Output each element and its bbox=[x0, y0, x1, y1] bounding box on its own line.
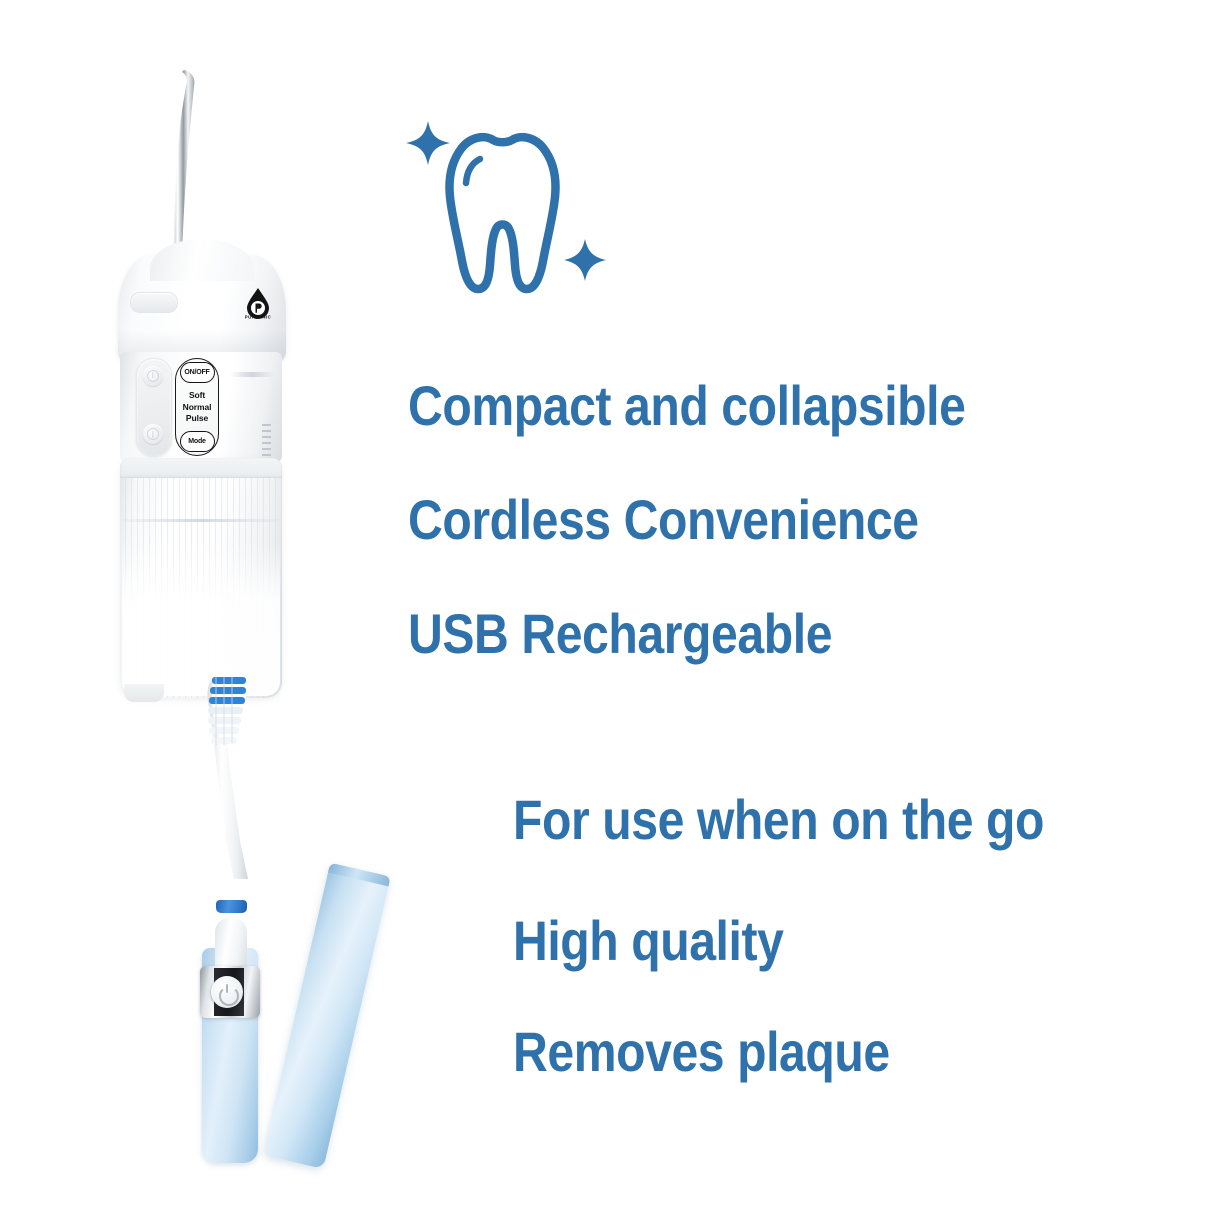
mode-pulse-label: Pulse bbox=[186, 413, 208, 424]
sparkle-icon bbox=[406, 121, 450, 165]
tank-fill-line bbox=[122, 519, 280, 522]
feature-high-quality: High quality bbox=[513, 913, 783, 969]
mode-normal-label: Normal bbox=[183, 402, 212, 413]
mode-list: Soft Normal Pulse bbox=[183, 390, 212, 424]
handle-power-button[interactable] bbox=[211, 976, 243, 1008]
toothbrush-handle bbox=[196, 900, 266, 1165]
cap-release-button[interactable] bbox=[130, 292, 178, 313]
power-icon bbox=[147, 370, 159, 382]
brush-head-collar bbox=[216, 900, 247, 913]
mode-label: Mode bbox=[180, 431, 215, 452]
feature-removes-plaque: Removes plaque bbox=[513, 1024, 890, 1080]
sparkle-icon bbox=[564, 239, 606, 281]
travel-cap bbox=[263, 863, 391, 1169]
tooth-icon bbox=[400, 105, 620, 295]
pursonic-brand-logo-icon: PURSONIC bbox=[238, 286, 278, 320]
mode-rubber-button[interactable] bbox=[143, 424, 163, 444]
feature-for-use-when-on-the-go: For use when on the go bbox=[513, 792, 1044, 848]
mode-soft-label: Soft bbox=[189, 390, 205, 401]
onoff-label: ON/OFF bbox=[180, 362, 215, 383]
body-seam bbox=[230, 372, 274, 377]
feature-compact-and-collapsible: Compact and collapsible bbox=[408, 378, 965, 434]
svg-text:PURSONIC: PURSONIC bbox=[245, 314, 272, 319]
mode-icon bbox=[147, 428, 159, 440]
tank-foot bbox=[124, 684, 164, 702]
feature-cordless-convenience: Cordless Convenience bbox=[408, 492, 919, 548]
product-image: PURSONIC ON/OFF Soft Normal Pulse Mode bbox=[0, 0, 400, 1214]
feature-usb-rechargeable: USB Rechargeable bbox=[408, 606, 832, 662]
power-rubber-button[interactable] bbox=[143, 366, 163, 386]
marketing-graphic-canvas: PURSONIC ON/OFF Soft Normal Pulse Mode bbox=[0, 0, 1214, 1214]
water-reservoir-tank bbox=[120, 458, 282, 698]
tank-top-band bbox=[120, 458, 282, 478]
toothbrush-head bbox=[192, 665, 282, 895]
handle-neck bbox=[215, 918, 247, 970]
control-label-plate: ON/OFF Soft Normal Pulse Mode bbox=[175, 358, 219, 456]
side-vent bbox=[262, 424, 271, 458]
